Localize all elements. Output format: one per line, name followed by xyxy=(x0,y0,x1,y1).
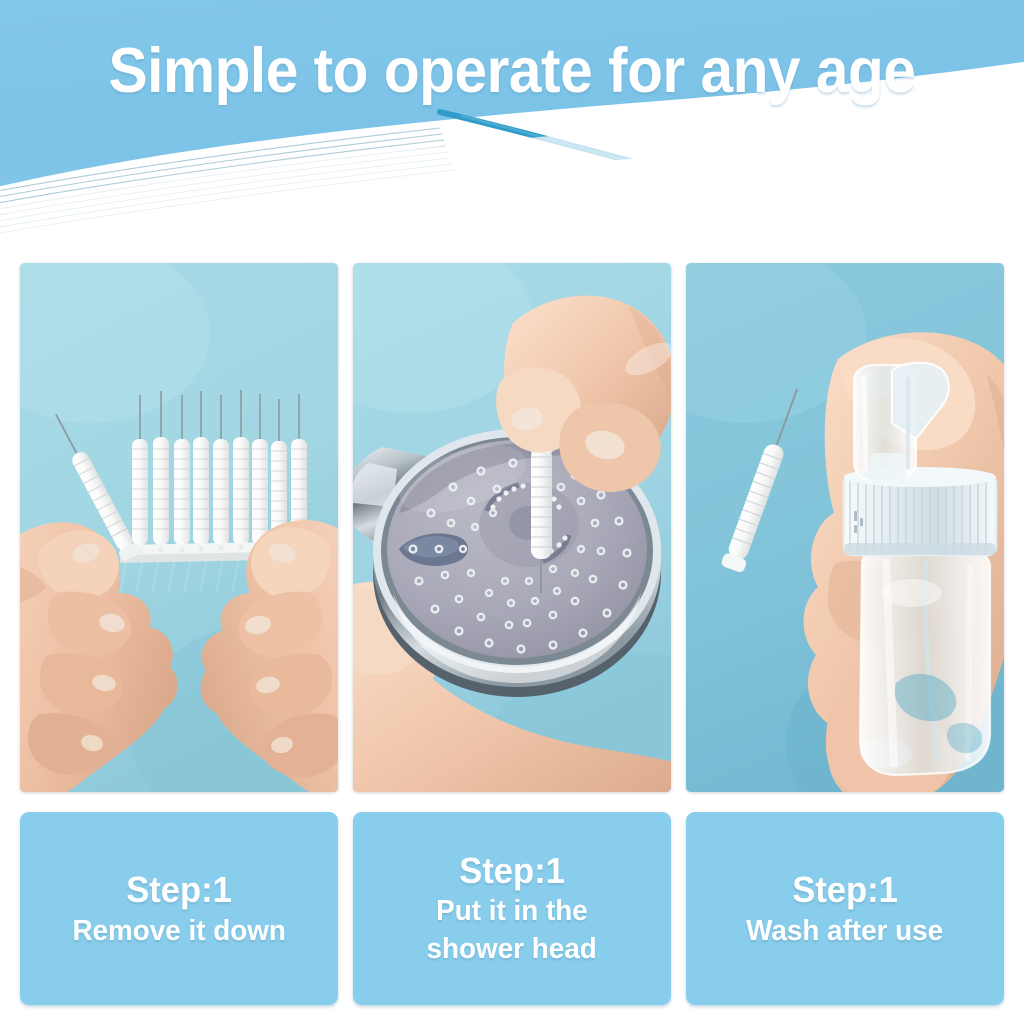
header-banner: Simple to operate for any age xyxy=(0,0,1024,263)
photo-panel-wash-brush xyxy=(686,263,1004,792)
caption-box-step-3: Step:1 Wash after use xyxy=(686,812,1004,1005)
image-insert-brush xyxy=(353,263,671,792)
image-remove-brush xyxy=(20,263,338,792)
photo-panel-insert-brush xyxy=(353,263,671,792)
caption-step-label: Step:1 xyxy=(459,850,565,892)
photo-row xyxy=(20,263,1004,792)
caption-text-line: Put it in the xyxy=(436,892,588,930)
caption-box-step-1: Step:1 Remove it down xyxy=(20,812,338,1005)
caption-box-step-2: Step:1 Put it in the shower head xyxy=(353,812,671,1005)
caption-text-line: Wash after use xyxy=(746,912,943,950)
caption-text-line: Remove it down xyxy=(72,912,285,950)
photo-panel-remove-brush xyxy=(20,263,338,792)
caption-step-label: Step:1 xyxy=(792,868,898,912)
caption-text-line: shower head xyxy=(427,930,597,968)
image-wash-brush xyxy=(686,263,1004,792)
page-title: Simple to operate for any age xyxy=(36,36,988,106)
caption-row: Step:1 Remove it down Step:1 Put it in t… xyxy=(20,812,1004,1005)
caption-step-label: Step:1 xyxy=(126,868,232,912)
